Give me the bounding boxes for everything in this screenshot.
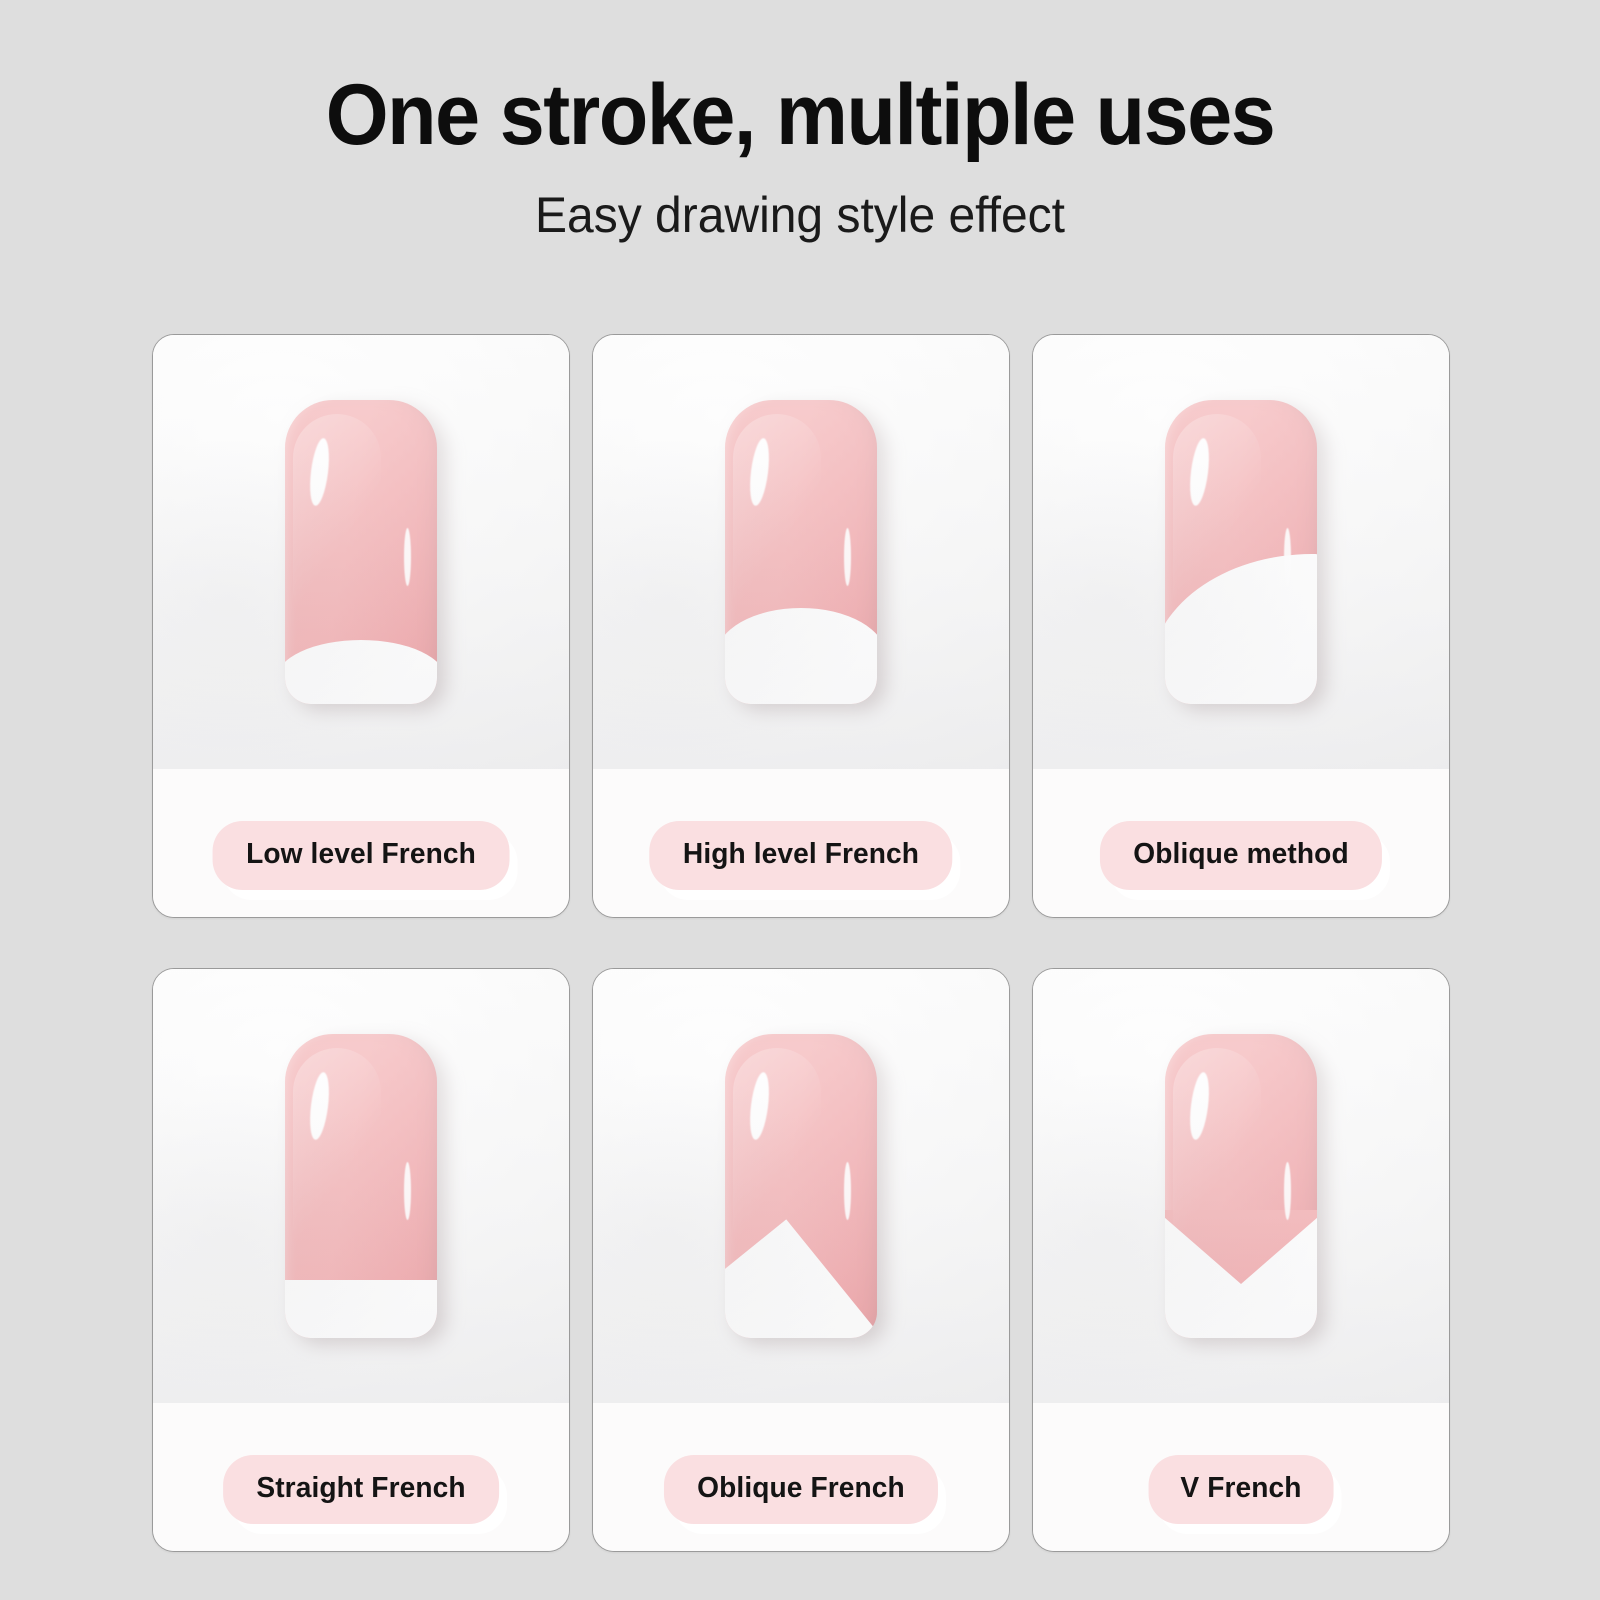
- nail-body: [1165, 1034, 1317, 1338]
- style-label: Low level French: [246, 840, 476, 869]
- card-footer: Oblique method: [1033, 769, 1449, 917]
- gloss-highlight: [1187, 437, 1212, 507]
- style-card-high-level-french[interactable]: High level French: [592, 334, 1010, 918]
- french-tip-oblique: [725, 1220, 877, 1338]
- nail-swatch-icon: [725, 1034, 877, 1338]
- style-label: Oblique method: [1133, 840, 1348, 869]
- nail-stage: [671, 1001, 931, 1371]
- gloss-side-highlight: [1284, 528, 1291, 586]
- nail-stage: [231, 1001, 491, 1371]
- nail-photo-oblique-method: [1033, 335, 1449, 769]
- nail-body: [1165, 400, 1317, 704]
- nail-swatch-icon: [1165, 1034, 1317, 1338]
- card-footer: V French: [1033, 1403, 1449, 1551]
- style-label: Oblique French: [697, 1474, 905, 1503]
- style-card-grid: Low level French High level Frenc: [152, 334, 1450, 1552]
- nail-swatch-icon: [285, 1034, 437, 1338]
- nail-stage: [1111, 1001, 1371, 1371]
- gloss-side-highlight: [1284, 1162, 1291, 1220]
- style-label: V French: [1180, 1474, 1301, 1503]
- gloss-side-highlight: [844, 528, 851, 586]
- nail-body: [725, 1034, 877, 1338]
- status-badge[interactable]: High level French: [649, 821, 952, 890]
- nail-stage: [671, 367, 931, 737]
- card-footer: Oblique French: [593, 1403, 1009, 1551]
- nail-swatch-icon: [285, 400, 437, 704]
- card-footer: High level French: [593, 769, 1009, 917]
- french-tip-high: [725, 608, 877, 704]
- card-footer: Low level French: [153, 769, 569, 917]
- nail-photo-v: [1033, 969, 1449, 1403]
- gloss-side-highlight: [404, 528, 411, 586]
- gloss-highlight: [1187, 1071, 1212, 1141]
- style-card-straight-french[interactable]: Straight French: [152, 968, 570, 1552]
- gloss-highlight: [307, 1071, 332, 1141]
- french-tip-straight: [285, 1280, 437, 1338]
- gloss-side-highlight: [404, 1162, 411, 1220]
- nail-photo-high: [593, 335, 1009, 769]
- nail-photo-straight: [153, 969, 569, 1403]
- nail-stage: [1111, 367, 1371, 737]
- status-badge[interactable]: Low level French: [213, 821, 510, 890]
- style-label: Straight French: [256, 1474, 465, 1503]
- page-subtitle: Easy drawing style effect: [32, 190, 1568, 240]
- gloss-sheen: [733, 414, 821, 633]
- status-badge[interactable]: Oblique method: [1100, 821, 1382, 890]
- style-label: High level French: [683, 840, 919, 869]
- french-tip-v: [1165, 1210, 1317, 1338]
- card-footer: Straight French: [153, 1403, 569, 1551]
- nail-body: [285, 400, 437, 704]
- gloss-highlight: [307, 437, 332, 507]
- nail-photo-low: [153, 335, 569, 769]
- gloss-highlight: [747, 1071, 772, 1141]
- style-card-oblique-method[interactable]: Oblique method: [1032, 334, 1450, 918]
- nail-stage: [231, 367, 491, 737]
- style-card-low-level-french[interactable]: Low level French: [152, 334, 570, 918]
- nail-photo-oblique-french: [593, 969, 1009, 1403]
- gloss-sheen: [293, 414, 381, 633]
- french-tip-oblique-method: [1165, 554, 1317, 704]
- status-badge[interactable]: Oblique French: [664, 1455, 938, 1524]
- page-header: One stroke, multiple uses Easy drawing s…: [0, 0, 1600, 240]
- nail-body: [285, 1034, 437, 1338]
- gloss-sheen: [293, 1048, 381, 1267]
- nail-swatch-icon: [1165, 400, 1317, 704]
- nail-swatch-icon: [725, 400, 877, 704]
- page-title: One stroke, multiple uses: [48, 72, 1552, 158]
- gloss-highlight: [747, 437, 772, 507]
- gloss-side-highlight: [844, 1162, 851, 1220]
- status-badge[interactable]: V French: [1149, 1455, 1334, 1524]
- style-card-v-french[interactable]: V French: [1032, 968, 1450, 1552]
- french-tip-low: [285, 640, 437, 704]
- style-card-oblique-french[interactable]: Oblique French: [592, 968, 1010, 1552]
- status-badge[interactable]: Straight French: [223, 1455, 499, 1524]
- nail-body: [725, 400, 877, 704]
